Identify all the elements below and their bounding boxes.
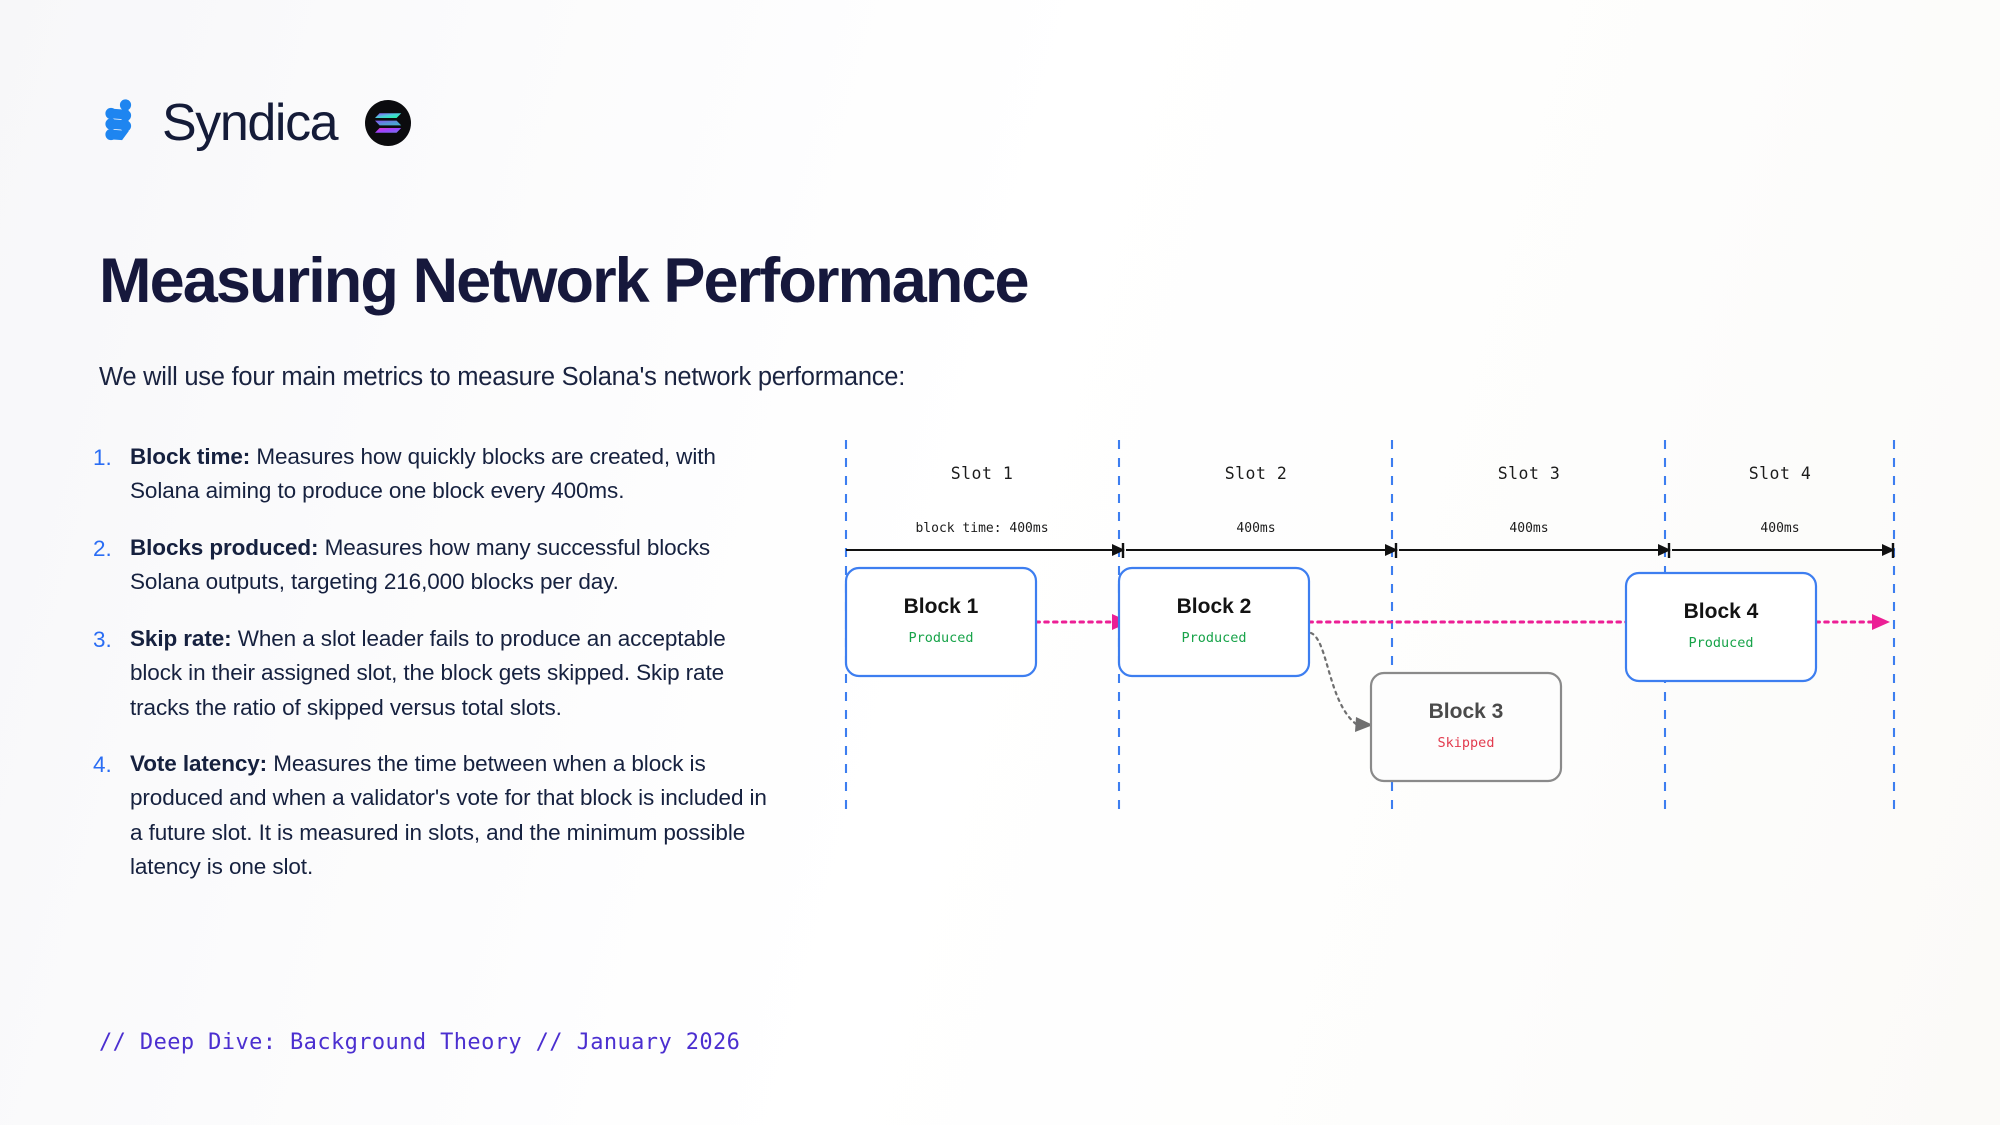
slot-label: Slot 1 bbox=[951, 464, 1014, 483]
footer-note: // Deep Dive: Background Theory // Janua… bbox=[99, 1030, 740, 1055]
chain-arrow-block1-block2 bbox=[1036, 614, 1130, 630]
page-title: Measuring Network Performance bbox=[99, 248, 1028, 315]
block-status-badge: Produced bbox=[908, 630, 973, 646]
page-subtitle: We will use four main metrics to measure… bbox=[99, 363, 905, 392]
slot-duration-label: 400ms bbox=[1509, 521, 1548, 536]
slot-label: Slot 3 bbox=[1498, 464, 1561, 483]
block-card-2[interactable]: Block 2 Produced bbox=[1119, 568, 1309, 676]
block-card-3[interactable]: Block 3 Skipped bbox=[1371, 673, 1561, 781]
list-item-text: Blocks produced: Measures how many succe… bbox=[130, 531, 773, 600]
slot-timeline-diagram: Slot 1 Slot 2 Slot 3 Slot 4 block time: … bbox=[816, 440, 1916, 840]
list-item-term: Skip rate: bbox=[130, 626, 232, 651]
list-item-text: Skip rate: When a slot leader fails to p… bbox=[130, 622, 773, 725]
list-item-number: 2. bbox=[93, 531, 119, 566]
timing-axis bbox=[846, 543, 1895, 558]
slot-duration-label: 400ms bbox=[1760, 521, 1799, 536]
block-title: Block 2 bbox=[1177, 595, 1252, 618]
list-item-text: Vote latency: Measures the time between … bbox=[130, 747, 773, 885]
block-status-badge: Produced bbox=[1181, 630, 1246, 646]
slot-label: Slot 2 bbox=[1225, 464, 1288, 483]
list-item: 1. Block time: Measures how quickly bloc… bbox=[93, 440, 773, 509]
brand-wordmark: Syndica bbox=[162, 97, 337, 149]
block-title: Block 4 bbox=[1684, 600, 1759, 623]
block-status-badge: Skipped bbox=[1438, 735, 1495, 751]
solana-logo-icon bbox=[365, 100, 411, 146]
syndica-logo-icon bbox=[99, 95, 149, 150]
list-item-term: Block time: bbox=[130, 444, 250, 469]
block-status-badge: Produced bbox=[1688, 635, 1753, 651]
metrics-list: 1. Block time: Measures how quickly bloc… bbox=[93, 440, 773, 907]
block-title: Block 3 bbox=[1429, 700, 1504, 723]
list-item: 4. Vote latency: Measures the time betwe… bbox=[93, 747, 773, 885]
list-item-term: Blocks produced: bbox=[130, 535, 318, 560]
slot-duration-label: block time: 400ms bbox=[915, 521, 1048, 536]
block-card-1[interactable]: Block 1 Produced bbox=[846, 568, 1036, 676]
list-item-number: 3. bbox=[93, 622, 119, 657]
brand-header: Syndica bbox=[99, 95, 411, 150]
list-item: 3. Skip rate: When a slot leader fails t… bbox=[93, 622, 773, 725]
list-item-text: Block time: Measures how quickly blocks … bbox=[130, 440, 773, 509]
list-item-term: Vote latency: bbox=[130, 751, 267, 776]
block-card-4[interactable]: Block 4 Produced bbox=[1626, 573, 1816, 681]
skip-arrow-block2-block3 bbox=[1311, 633, 1373, 732]
syndica-lockup: Syndica bbox=[99, 95, 337, 150]
block-title: Block 1 bbox=[904, 595, 979, 618]
list-item-number: 4. bbox=[93, 747, 119, 782]
list-item: 2. Blocks produced: Measures how many su… bbox=[93, 531, 773, 600]
list-item-number: 1. bbox=[93, 440, 119, 475]
slot-label: Slot 4 bbox=[1749, 464, 1812, 483]
slot-duration-label: 400ms bbox=[1236, 521, 1275, 536]
chain-arrow-block4-onward bbox=[1816, 614, 1890, 630]
